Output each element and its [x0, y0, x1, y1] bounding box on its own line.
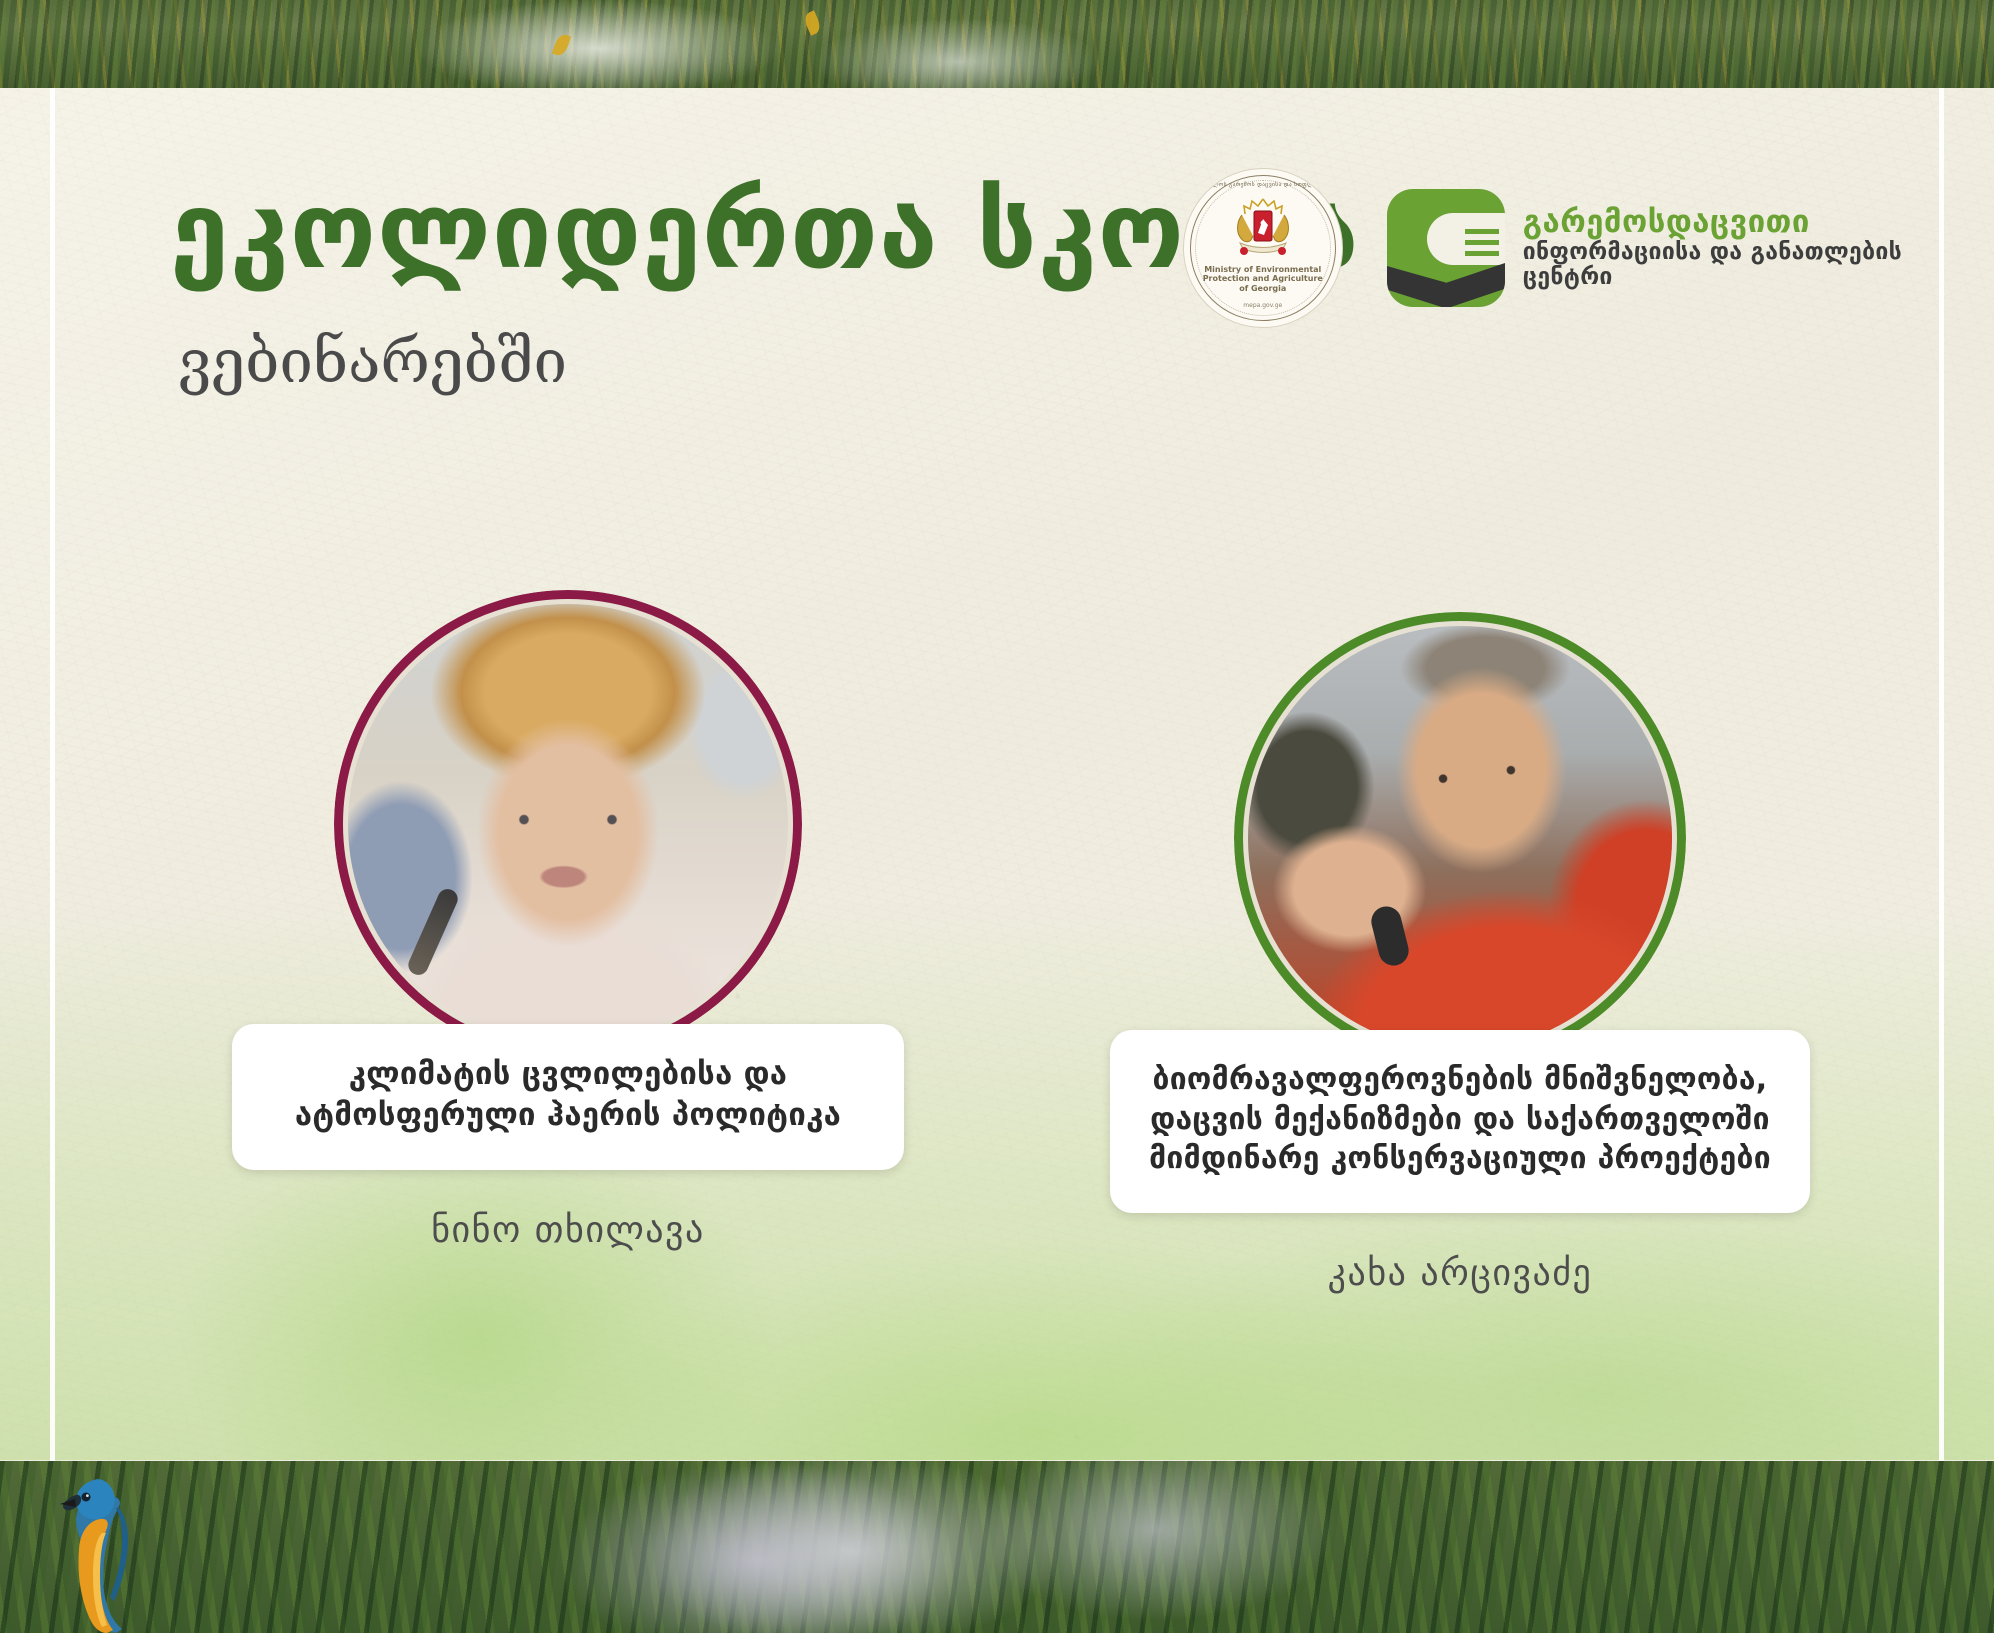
eiec-bar-icon: [1465, 240, 1499, 245]
logo-row: საქართველოს გარემოს დაცვისა და სოფლის მე…: [1183, 168, 1902, 328]
seal-arc-top-text: საქართველოს გარემოს დაცვისა და სოფლის მე…: [1184, 182, 1342, 188]
photo-kakha-artsivadze: [1248, 626, 1672, 1050]
speaker-topic-card: ბიომრავალფეროვნების მნიშვნელობა, დაცვის …: [1110, 1030, 1810, 1213]
page-title: ეკოლიდერთა სკოლა: [170, 178, 1360, 284]
eiec-logo: გარემოსდაცვითი ინფორმაციისა და განათლები…: [1387, 189, 1902, 307]
speaker-topic-card: კლიმატის ცვლილებისა და ატმოსფერული ჰაერი…: [232, 1024, 904, 1170]
poster-canvas: ეკოლიდერთა სკოლა ვებინარებში საქართველოს…: [0, 0, 1994, 1633]
eiec-book-mark-icon: [1387, 189, 1505, 307]
eiec-text-line-2: ინფორმაციისა და განათლების: [1523, 240, 1902, 266]
speakers-section: კლიმატის ცვლილებისა და ატმოსფერული ჰაერი…: [0, 590, 1994, 1390]
microphone-icon: [405, 886, 461, 978]
speaker-card-kakha-artsivadze: ბიომრავალფეროვნების მნიშვნელობა, დაცვის …: [1010, 612, 1910, 1294]
speaker-topic-text: ბიომრავალფეროვნების მნიშვნელობა, დაცვის …: [1144, 1060, 1776, 1179]
seal-english-name: Ministry of Environmental Protection and…: [1184, 265, 1342, 293]
speaker-name: ნინო თხილავა: [118, 1210, 1018, 1251]
speaker-portrait: [1234, 612, 1686, 1064]
top-forest-banner: [0, 0, 1994, 88]
blue-flycatcher-bird-icon: [42, 1461, 202, 1633]
speaker-portrait: [334, 590, 802, 1058]
waterfall-mist: [640, 1461, 1060, 1633]
eiec-text-line-1: გარემოსდაცვითი: [1523, 205, 1902, 240]
georgia-coat-of-arms-icon: [1224, 197, 1302, 259]
speaker-name: კახა არცივაძე: [1010, 1253, 1910, 1294]
ministry-seal-logo: საქართველოს გარემოს დაცვისა და სოფლის მე…: [1183, 168, 1343, 328]
bottom-forest-banner: [0, 1461, 1994, 1633]
eiec-logo-text: გარემოსდაცვითი ინფორმაციისა და განათლები…: [1523, 205, 1902, 291]
microphone-icon: [1368, 903, 1412, 968]
eiec-notch-shape: [1427, 213, 1505, 265]
top-banner-forest-scene: [0, 0, 1994, 88]
photo-nino-tkhilava: [348, 604, 788, 1044]
page-subtitle: ვებინარებში: [178, 332, 567, 392]
speaker-topic-text: კლიმატის ცვლილებისა და ატმოსფერული ჰაერი…: [266, 1054, 870, 1136]
speaker-card-nino-tkhilava: კლიმატის ცვლილებისა და ატმოსფერული ჰაერი…: [118, 590, 1018, 1251]
speaker-photo: [1248, 626, 1672, 1050]
eiec-text-line-3: ცენტრი: [1523, 265, 1902, 291]
speaker-photo: [348, 604, 788, 1044]
eiec-bar-icon: [1465, 251, 1499, 256]
eiec-bar-icon: [1465, 229, 1499, 234]
seal-url: mepa.gov.ge: [1184, 302, 1342, 309]
